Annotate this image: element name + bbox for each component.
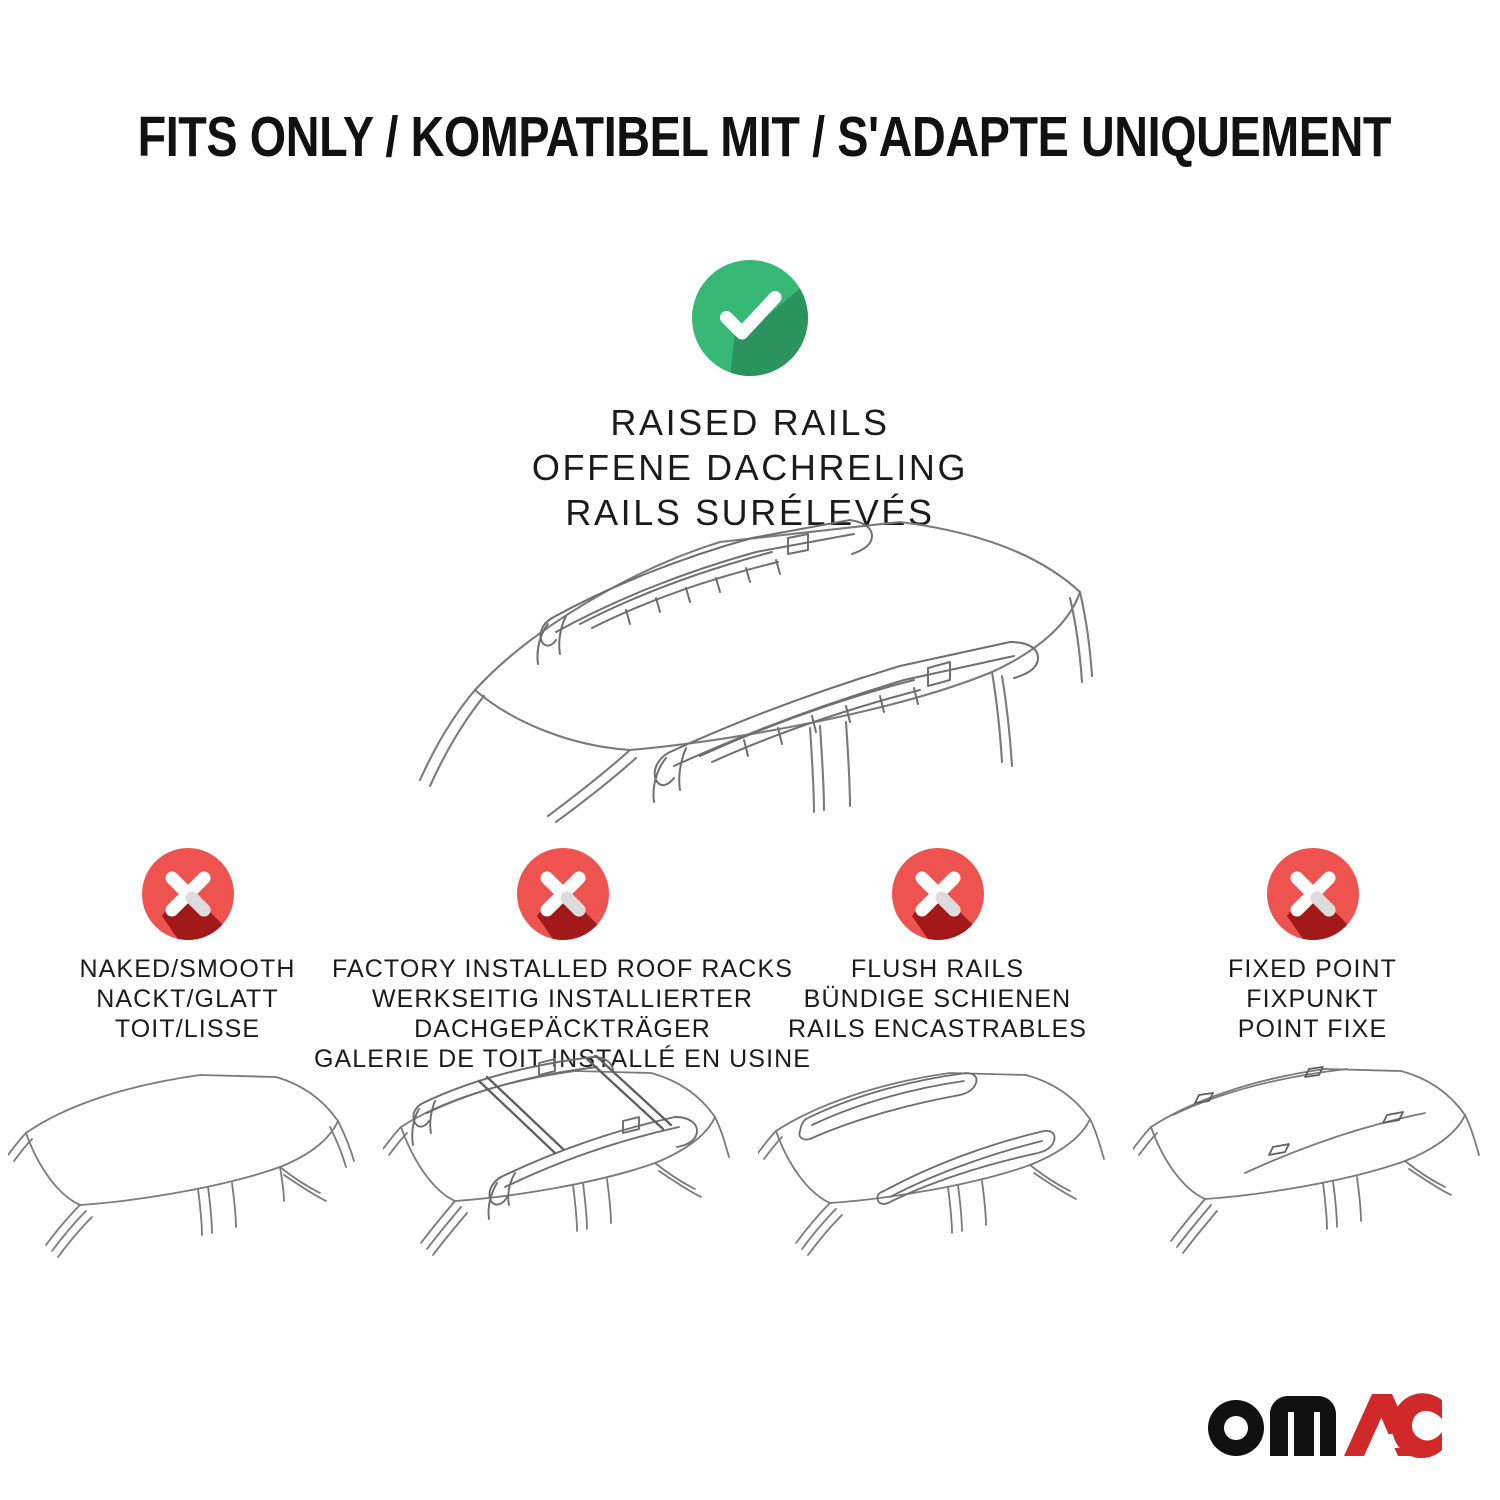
infographic-page: FITS ONLY / KOMPATIBEL MIT / S'ADAPTE UN… xyxy=(0,0,1500,1500)
label-de: FIXPUNKT xyxy=(1228,984,1397,1014)
omac-logo xyxy=(1202,1386,1442,1458)
page-title: FITS ONLY / KOMPATIBEL MIT / S'ADAPTE UN… xyxy=(0,104,1500,170)
label-en: FACTORY INSTALLED ROOF RACKS xyxy=(314,954,811,984)
car-roof-fixed-point-drawing xyxy=(1125,1055,1500,1285)
label-de-2: DACHGEPÄCKTRÄGER xyxy=(314,1014,811,1044)
page-title-text: FITS ONLY / KOMPATIBEL MIT / S'ADAPTE UN… xyxy=(138,104,1391,170)
not-supported-item-factory-racks: FACTORY INSTALLED ROOF RACKS WERKSEITIG … xyxy=(375,846,750,1074)
x-circle-icon xyxy=(890,846,986,942)
car-roof-naked-smooth-drawing xyxy=(0,1055,375,1285)
x-circle-icon xyxy=(1265,846,1361,942)
approved-section: RAISED RAILS OFFENE DACHRELING RAILS SUR… xyxy=(0,258,1500,535)
not-supported-section: NAKED/SMOOTH NACKT/GLATT TOIT/LISSE xyxy=(0,846,1500,1074)
label-group-naked-smooth: NAKED/SMOOTH NACKT/GLATT TOIT/LISSE xyxy=(80,954,296,1044)
approved-label-en: RAISED RAILS xyxy=(0,400,1500,445)
label-de: NACKT/GLATT xyxy=(80,984,296,1014)
label-en: FLUSH RAILS xyxy=(788,954,1087,984)
label-en: NAKED/SMOOTH xyxy=(80,954,296,984)
not-supported-item-flush-rails: FLUSH RAILS BÜNDIGE SCHIENEN RAILS ENCAS… xyxy=(750,846,1125,1074)
label-fr: TOIT/LISSE xyxy=(80,1014,296,1044)
label-fr: POINT FIXE xyxy=(1228,1014,1397,1044)
approved-label-de: OFFENE DACHRELING xyxy=(0,445,1500,490)
x-circle-icon xyxy=(140,846,236,942)
label-de: BÜNDIGE SCHIENEN xyxy=(788,984,1087,1014)
label-de-1: WERKSEITIG INSTALLIERTER xyxy=(314,984,811,1014)
not-supported-illustrations xyxy=(0,1055,1500,1285)
car-roof-factory-racks-drawing xyxy=(375,1055,750,1285)
car-roof-flush-rails-drawing xyxy=(750,1055,1125,1285)
label-group-fixed-point: FIXED POINT FIXPUNKT POINT FIXE xyxy=(1228,954,1397,1044)
x-circle-icon xyxy=(515,846,611,942)
check-circle-icon xyxy=(690,258,810,378)
label-en: FIXED POINT xyxy=(1228,954,1397,984)
car-roof-raised-rails-drawing xyxy=(380,500,1120,830)
label-fr: RAILS ENCASTRABLES xyxy=(788,1014,1087,1044)
not-supported-item-fixed-point: FIXED POINT FIXPUNKT POINT FIXE xyxy=(1125,846,1500,1074)
label-group-flush-rails: FLUSH RAILS BÜNDIGE SCHIENEN RAILS ENCAS… xyxy=(788,954,1087,1044)
